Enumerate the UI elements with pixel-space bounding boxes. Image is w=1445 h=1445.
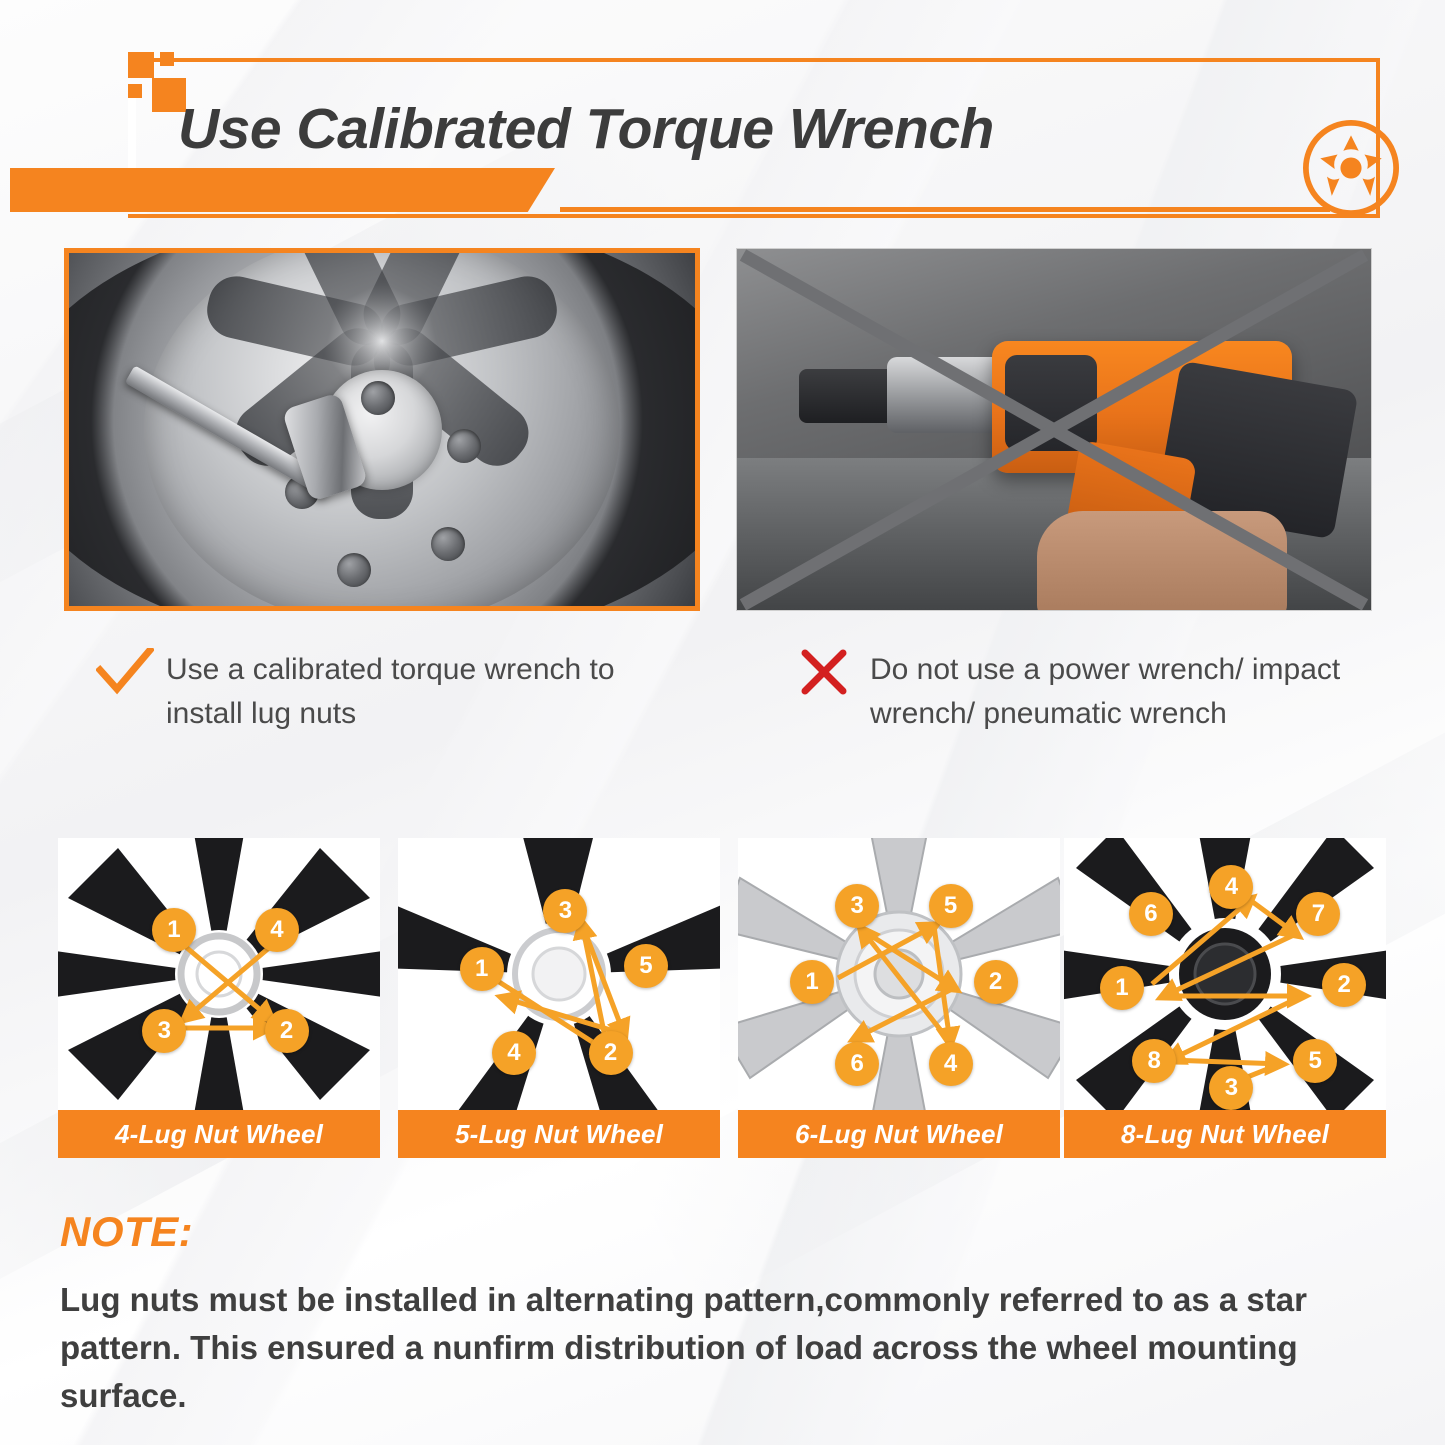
torque-wrench-photo (64, 248, 700, 611)
header-accent-line (560, 207, 1330, 212)
header-accent-bar (10, 168, 555, 212)
lug-badge: 5 (624, 944, 668, 988)
infographic-page: Use Calibrated Torque Wrench (0, 0, 1445, 1445)
lug-badge: 3 (835, 884, 879, 928)
lug-badge: 6 (835, 1042, 879, 1086)
lug-badge: 5 (1293, 1039, 1337, 1083)
caption-approved: Use a calibrated torque wrench to instal… (96, 648, 696, 735)
wheel-diagram-6: 3 5 1 2 6 4 (738, 838, 1060, 1110)
rim-illustration (398, 838, 720, 1110)
header: Use Calibrated Torque Wrench (0, 0, 1445, 235)
note-section: NOTE: Lug nuts must be installed in alte… (60, 1208, 1390, 1420)
lug-badge: 2 (974, 960, 1018, 1004)
lug-badge: 4 (492, 1031, 536, 1075)
lug-pattern-card-8: 4 6 7 1 2 8 5 3 8-Lug Nut Wheel (1064, 838, 1386, 1168)
pixel-block-decoration (160, 52, 174, 66)
caption-prohibited-text: Do not use a power wrench/ impact wrench… (870, 648, 1380, 735)
lug-badge: 6 (1129, 892, 1173, 936)
card-label-4: 4-Lug Nut Wheel (58, 1110, 380, 1158)
lug-badge: 1 (1100, 966, 1144, 1010)
caption-prohibited: Do not use a power wrench/ impact wrench… (800, 648, 1380, 735)
impact-wrench-photo (736, 248, 1372, 611)
lug-badge: 1 (460, 947, 504, 991)
lug-badge: 5 (929, 884, 973, 928)
card-label-6: 6-Lug Nut Wheel (738, 1110, 1060, 1158)
lug-pattern-card-4: 1 4 3 2 4-Lug Nut Wheel (58, 838, 380, 1168)
caption-approved-text: Use a calibrated torque wrench to instal… (166, 648, 696, 735)
wheel-rim-icon (1303, 120, 1399, 216)
note-body: Lug nuts must be installed in alternatin… (60, 1276, 1390, 1420)
rim-illustration (58, 838, 380, 1110)
lug-badge: 2 (265, 1009, 309, 1053)
page-title: Use Calibrated Torque Wrench (178, 96, 994, 162)
pixel-block-decoration (128, 84, 142, 98)
wheel-diagram-4: 1 4 3 2 (58, 838, 380, 1110)
caption-row: Use a calibrated torque wrench to instal… (0, 640, 1445, 820)
prohibited-x-overlay (737, 249, 1371, 611)
lug-pattern-cards: 1 4 3 2 4-Lug Nut Wheel (0, 838, 1445, 1168)
check-mark-icon (96, 648, 166, 703)
wheel-diagram-5: 3 1 5 4 2 (398, 838, 720, 1110)
note-title: NOTE: (60, 1208, 1390, 1256)
wheel-diagram-8: 4 6 7 1 2 8 5 3 (1064, 838, 1386, 1110)
lug-badge: 1 (790, 960, 834, 1004)
lug-pattern-card-6: 3 5 1 2 6 4 6-Lug Nut Wheel (738, 838, 1060, 1168)
lug-pattern-card-5: 3 1 5 4 2 5-Lug Nut Wheel (398, 838, 720, 1168)
pixel-block-decoration (128, 52, 154, 78)
lug-badge: 2 (1322, 963, 1366, 1007)
card-label-5: 5-Lug Nut Wheel (398, 1110, 720, 1158)
lug-badge: 2 (589, 1031, 633, 1075)
card-label-8: 8-Lug Nut Wheel (1064, 1110, 1386, 1158)
lug-badge: 4 (929, 1042, 973, 1086)
cross-mark-icon (800, 648, 870, 701)
photo-row (0, 248, 1445, 623)
lug-badge: 8 (1132, 1039, 1176, 1083)
